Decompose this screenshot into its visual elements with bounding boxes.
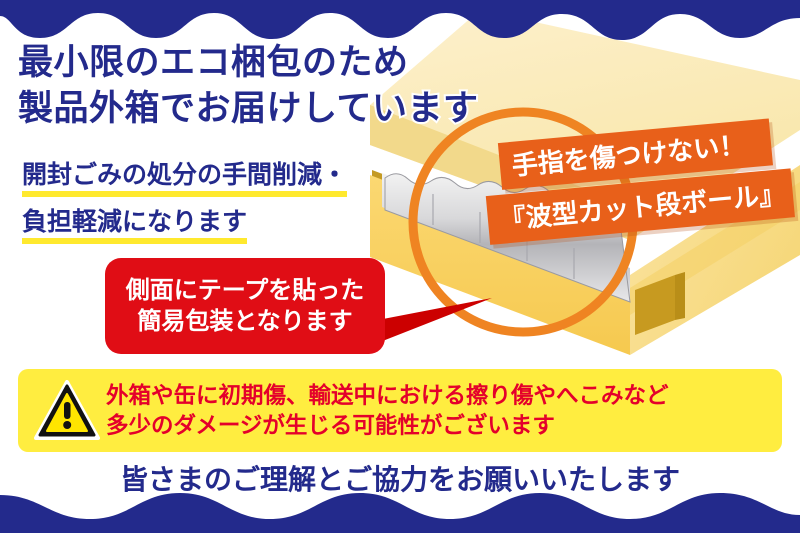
headline: 最小限のエコ梱包のため 製品外箱でお届けしています	[18, 40, 558, 131]
warning-box: 外箱や缶に初期傷、輸送中における擦り傷やへこみなど 多少のダメージが生じる可能性…	[18, 369, 782, 452]
red-arrow-pointer	[370, 258, 530, 358]
red-callout-line-2: 簡易包装となります	[137, 306, 352, 337]
packaging-notice-banner: 最小限のエコ梱包のため 製品外箱でお届けしています 開封ごみの処分の手間削減・ …	[0, 0, 800, 533]
subtext-line-1: 開封ごみの処分の手間削減・	[22, 163, 347, 197]
red-speech-callout: 側面にテープを貼った 簡易包装となります	[105, 258, 385, 354]
red-callout-text: 側面にテープを貼った 簡易包装となります	[105, 258, 385, 354]
warning-line-2: 多少のダメージが生じる可能性がございます	[106, 411, 669, 441]
subtext: 開封ごみの処分の手間削減・ 負担軽減になります	[22, 163, 347, 257]
closing-line: 皆さまのご理解とご協力をお願いいたします	[0, 458, 800, 498]
subtext-line-1-text: 開封ごみの処分の手間削減・	[22, 163, 347, 197]
warning-line-1: 外箱や缶に初期傷、輸送中における擦り傷やへこみなど	[106, 381, 669, 411]
subtext-line-2-text: 負担軽減になります	[22, 210, 247, 244]
headline-line-1: 最小限のエコ梱包のため	[18, 40, 558, 86]
headline-line-2: 製品外箱でお届けしています	[18, 86, 558, 132]
red-callout-line-1: 側面にテープを貼った	[126, 275, 365, 306]
warning-triangle-icon	[34, 380, 100, 442]
subtext-line-2: 負担軽減になります	[22, 210, 347, 244]
warning-text: 外箱や缶に初期傷、輸送中における擦り傷やへこみなど 多少のダメージが生じる可能性…	[106, 381, 669, 441]
